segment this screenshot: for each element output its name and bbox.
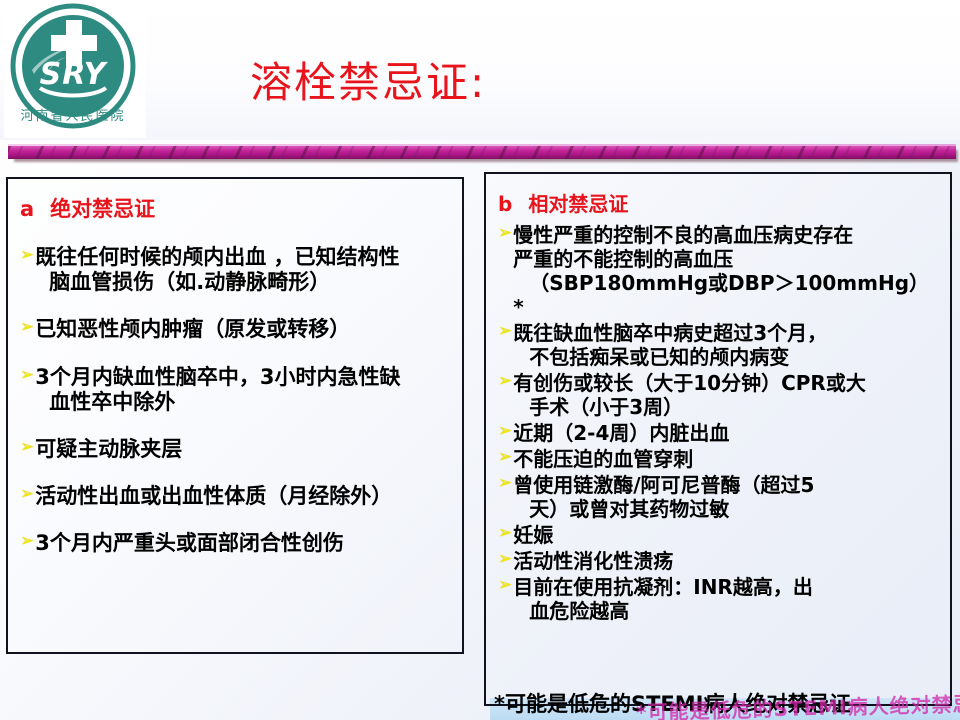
list-item-line: （SBP180mmHg或DBP＞100mmHg） — [513, 271, 929, 295]
list-item-line: 3个月内缺血性脑卒中，3小时内急性缺 — [35, 365, 400, 389]
list-item-line: 不能压迫的血管穿刺 — [513, 447, 693, 471]
decorative-rule — [0, 142, 960, 164]
list-item: ➢ 既往任何时候的颅内出血 ，已知结构性 脑血管损伤（如.动静脉畸形） — [20, 245, 452, 295]
list-item-line: 天）或曾对其药物过敏 — [513, 497, 814, 521]
bullet-arrow-icon: ➢ — [20, 317, 34, 337]
bullet-arrow-icon: ➢ — [20, 484, 34, 504]
footnote-text: *可能是低危的STEMI病人绝对禁忌证 — [494, 688, 954, 718]
list-item-line: 已知恶性颅内肿瘤（原发或转移） — [35, 317, 350, 341]
list-item: ➢ 近期（2-4周）内脏出血 — [498, 421, 940, 445]
bullet-arrow-icon: ➢ — [20, 245, 34, 265]
bullet-arrow-icon: ➢ — [498, 575, 512, 595]
list-item-line: 既往缺血性脑卒中病史超过3个月， — [513, 321, 827, 345]
bullet-arrow-icon: ➢ — [498, 321, 512, 341]
right-panel-label: 相对禁忌证 — [528, 192, 628, 216]
list-item-line: 有创伤或较长（大于10分钟）CPR或大 — [513, 371, 866, 395]
svg-text:SRY: SRY — [40, 57, 109, 92]
list-item-line: 可疑主动脉夹层 — [35, 437, 182, 461]
left-panel-label: 绝对禁忌证 — [50, 197, 155, 221]
list-item-line: 目前在使用抗凝剂：INR越高，出 — [513, 575, 813, 599]
list-item: ➢ 活动性消化性溃疡 — [498, 549, 940, 573]
bullet-arrow-icon: ➢ — [498, 223, 512, 243]
right-panel-heading: b相对禁忌证 — [498, 188, 940, 217]
list-item-line: 慢性严重的控制不良的高血压病史存在 — [513, 223, 853, 247]
list-item: ➢ 目前在使用抗凝剂：INR越高，出 血危险越高 — [498, 575, 940, 623]
hospital-logo: SRY 河南省人民医院 — [4, 2, 146, 138]
list-item-line: 活动性出血或出血性体质（月经除外） — [35, 484, 392, 508]
left-panel-letter: a — [20, 197, 34, 221]
list-item-text: 可疑主动脉夹层 — [35, 437, 182, 462]
list-item: ➢ 既往缺血性脑卒中病史超过3个月， 不包括痴呆或已知的颅内病变 — [498, 321, 940, 369]
bullet-arrow-icon: ➢ — [498, 549, 512, 569]
rule-bar — [8, 145, 956, 159]
bullet-arrow-icon: ➢ — [498, 371, 512, 391]
bullet-arrow-icon: ➢ — [498, 421, 512, 441]
bullet-arrow-icon: ➢ — [20, 437, 34, 457]
list-item-text: 已知恶性颅内肿瘤（原发或转移） — [35, 317, 350, 342]
list-item-line: * — [513, 295, 929, 319]
list-item-text: 慢性严重的控制不良的高血压病史存在 严重的不能控制的高血压 （SBP180mmH… — [513, 223, 929, 319]
list-item-text: 曾使用链激酶/阿可尼普酶（超过5 天）或曾对其药物过敏 — [513, 473, 814, 521]
list-item-line: 严重的不能控制的高血压 — [513, 247, 929, 271]
right-panel-letter: b — [498, 192, 512, 216]
list-item: ➢ 3个月内缺血性脑卒中，3小时内急性缺 血性卒中除外 — [20, 365, 452, 415]
bullet-arrow-icon: ➢ — [20, 365, 34, 385]
list-item-line: 不包括痴呆或已知的颅内病变 — [513, 345, 827, 369]
list-item-line: 妊娠 — [513, 523, 553, 547]
list-item-line: 近期（2-4周）内脏出血 — [513, 421, 729, 445]
list-item: ➢ 已知恶性颅内肿瘤（原发或转移） — [20, 317, 452, 342]
list-item-text: 不能压迫的血管穿刺 — [513, 447, 693, 471]
list-item-line: 3个月内严重头或面部闭合性创伤 — [35, 531, 344, 555]
list-item: ➢ 3个月内严重头或面部闭合性创伤 — [20, 531, 452, 556]
list-item-text: 既往缺血性脑卒中病史超过3个月， 不包括痴呆或已知的颅内病变 — [513, 321, 827, 369]
list-item-text: 近期（2-4周）内脏出血 — [513, 421, 729, 445]
list-item-text: 目前在使用抗凝剂：INR越高，出 血危险越高 — [513, 575, 813, 623]
list-item-text: 妊娠 — [513, 523, 553, 547]
list-item: ➢ 妊娠 — [498, 523, 940, 547]
presentation-slide: SRY 河南省人民医院 溶栓禁忌证: a绝对禁忌证 ➢ 既往任何时候的颅内出血 … — [0, 0, 960, 720]
bullet-arrow-icon: ➢ — [20, 531, 34, 551]
list-item: ➢ 有创伤或较长（大于10分钟）CPR或大 手术（小于3周） — [498, 371, 940, 419]
slide-header: SRY 河南省人民医院 溶栓禁忌证: — [0, 0, 960, 140]
list-item-line: 手术（小于3周） — [513, 395, 866, 419]
list-item-text: 既往任何时候的颅内出血 ，已知结构性 脑血管损伤（如.动静脉畸形） — [35, 245, 399, 295]
list-item-text: 3个月内严重头或面部闭合性创伤 — [35, 531, 344, 556]
bullet-arrow-icon: ➢ — [498, 523, 512, 543]
list-item-line: 曾使用链激酶/阿可尼普酶（超过5 — [513, 473, 814, 497]
left-bullet-list: ➢ 既往任何时候的颅内出血 ，已知结构性 脑血管损伤（如.动静脉畸形） ➢ 已知… — [20, 245, 452, 557]
list-item-text: 活动性消化性溃疡 — [513, 549, 673, 573]
absolute-contraindications-panel: a绝对禁忌证 ➢ 既往任何时候的颅内出血 ，已知结构性 脑血管损伤（如.动静脉畸… — [6, 177, 464, 654]
list-item-line: 血性卒中除外 — [35, 390, 400, 415]
page-title: 溶栓禁忌证: — [250, 62, 486, 104]
left-panel-heading: a绝对禁忌证 — [20, 193, 452, 223]
right-bullet-list: ➢ 慢性严重的控制不良的高血压病史存在 严重的不能控制的高血压 （SBP180m… — [498, 223, 940, 623]
list-item: ➢ 曾使用链激酶/阿可尼普酶（超过5 天）或曾对其药物过敏 — [498, 473, 940, 521]
list-item-line: 血危险越高 — [513, 599, 813, 623]
hospital-logo-icon: SRY 河南省人民医院 — [4, 2, 146, 138]
list-item-text: 3个月内缺血性脑卒中，3小时内急性缺 血性卒中除外 — [35, 365, 400, 415]
list-item: ➢ 可疑主动脉夹层 — [20, 437, 452, 462]
list-item-line: 脑血管损伤（如.动静脉畸形） — [35, 270, 399, 295]
list-item: ➢ 活动性出血或出血性体质（月经除外） — [20, 484, 452, 509]
bullet-arrow-icon: ➢ — [498, 473, 512, 493]
list-item-text: 活动性出血或出血性体质（月经除外） — [35, 484, 392, 509]
bullet-arrow-icon: ➢ — [498, 447, 512, 467]
list-item-text: 有创伤或较长（大于10分钟）CPR或大 手术（小于3周） — [513, 371, 866, 419]
relative-contraindications-panel: b相对禁忌证 ➢ 慢性严重的控制不良的高血压病史存在 严重的不能控制的高血压 （… — [484, 172, 952, 706]
list-item-line: 既往任何时候的颅内出血 ，已知结构性 — [35, 245, 399, 269]
list-item: ➢ 慢性严重的控制不良的高血压病史存在 严重的不能控制的高血压 （SBP180m… — [498, 223, 940, 319]
logo-org-text: 河南省人民医院 — [20, 108, 125, 124]
rule-highlight — [8, 144, 956, 146]
list-item: ➢ 不能压迫的血管穿刺 — [498, 447, 940, 471]
list-item-line: 活动性消化性溃疡 — [513, 549, 673, 573]
